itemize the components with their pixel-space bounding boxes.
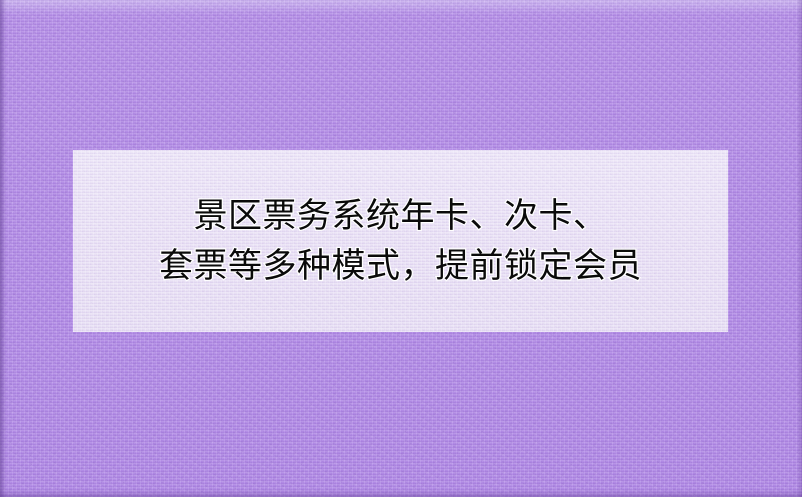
caption-text-block: 景区票务系统年卡、次卡、 套票等多种模式，提前锁定会员 <box>73 150 728 332</box>
caption-line-2: 套票等多种模式，提前锁定会员 <box>159 241 642 291</box>
banner-canvas: 景区票务系统年卡、次卡、 套票等多种模式，提前锁定会员 <box>0 0 802 497</box>
caption-line-1: 景区票务系统年卡、次卡、 <box>194 191 608 241</box>
caption-panel: 景区票务系统年卡、次卡、 套票等多种模式，提前锁定会员 <box>73 150 728 332</box>
